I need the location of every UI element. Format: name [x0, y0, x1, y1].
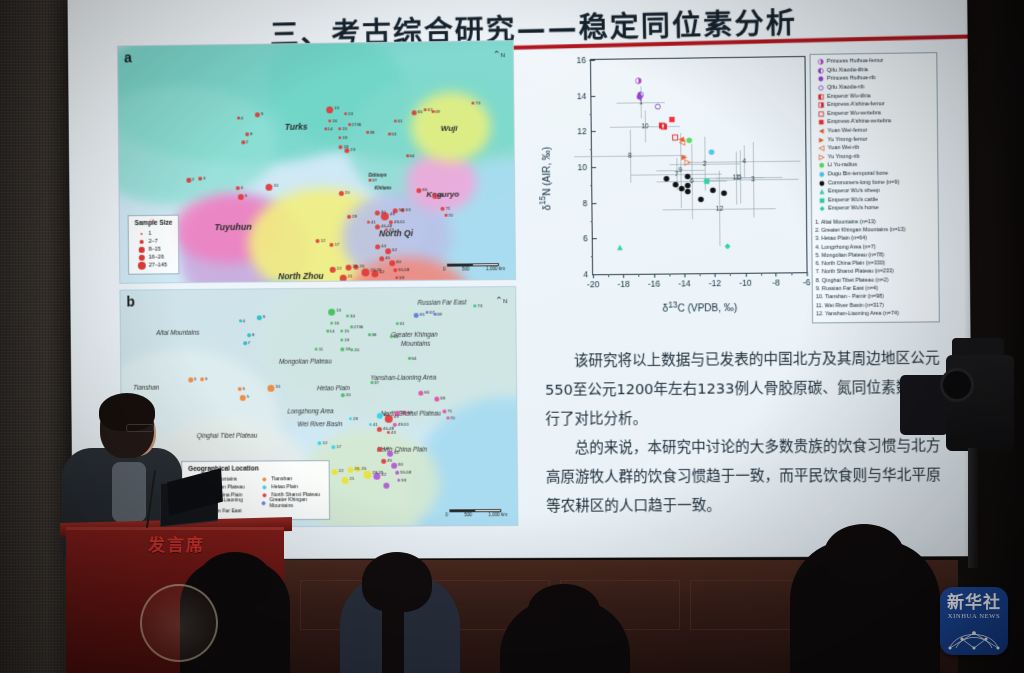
x-axis-minor-tick [791, 272, 792, 275]
chart-legend-marker-icon [814, 68, 827, 74]
map-a-region-label: Tuyuhun [214, 222, 251, 232]
map-a-sample-dot [255, 112, 260, 117]
map-b-site-number: 19 [344, 337, 349, 342]
podium-emblem-icon [140, 584, 218, 662]
map-a-site-number: 5 [245, 193, 247, 198]
map-a-site-number: 6 [241, 185, 243, 190]
group-number-annotation: 12 [716, 205, 723, 212]
data-point [686, 131, 693, 149]
map-b-site-number: 55-58 [400, 470, 411, 475]
chart-legend-marker-icon [814, 85, 827, 91]
map-b-site-number: 71 [447, 408, 452, 413]
data-point [703, 172, 710, 190]
chart-legend-marker-icon [815, 206, 828, 212]
map-a-site-number: 19 [342, 135, 347, 140]
map-a-sample-dot [432, 194, 437, 199]
chart-legend-marker-icon [814, 102, 827, 108]
map-a-sample-dot [326, 106, 333, 113]
map-b-sample-dot [340, 329, 343, 332]
sample-size-legend-label: 8–15 [149, 247, 161, 253]
data-point [724, 237, 731, 255]
map-a-sample-dot [375, 224, 380, 229]
map-b-sample-dot [473, 304, 476, 307]
map-b-site-number: 3 [194, 376, 196, 381]
map-b-site-number: 17 [336, 444, 341, 449]
map-b-sample-dot [243, 341, 246, 345]
map-b-geo-label: Longzhong Area [287, 408, 333, 415]
chart-legend-label: Empress A'shina-vertebra [827, 119, 891, 126]
map-b-sample-dot [395, 471, 399, 475]
map-b-sample-dot [342, 477, 349, 484]
map-b-site-number: 26 [361, 466, 366, 471]
data-point [698, 190, 705, 208]
x-axis-tick: -8 [772, 272, 780, 287]
map-a-sample-dot [347, 215, 351, 219]
map-b-geo-label: Mongolian Plateau [279, 358, 332, 365]
map-b-site-number: 6 [243, 386, 245, 391]
map-b-site-number: 69 [437, 312, 442, 317]
map-panel-a: a ⌃N TurksWujiDidouyuKhitansKoguryoTuyuh… [117, 40, 516, 284]
map-b-sample-dot [387, 431, 390, 434]
map-a-sample-dot [367, 221, 370, 224]
map-a-site-number: 61 [398, 118, 403, 123]
y-axis-tick: 8 [583, 198, 593, 208]
map-b-site-number: 29-35 [372, 470, 383, 475]
scalebar-tick-label: 0 [445, 512, 448, 517]
group-number-annotation: 8 [628, 152, 632, 159]
map-b-site-number: 10 [275, 384, 280, 389]
map-a-site-number: 20 [345, 190, 350, 195]
data-point [709, 181, 716, 199]
map-a-sample-dot [329, 243, 333, 247]
map-b-sample-dot [442, 409, 446, 413]
map-b-sample-dot [350, 325, 353, 328]
map-a-sample-dot [471, 102, 474, 105]
x-axis-minor-tick [761, 273, 762, 276]
x-axis-tick: -6 [803, 272, 811, 287]
map-a-sample-dot [339, 191, 344, 196]
map-a-site-number: 28 [352, 214, 357, 219]
map-b-sample-dot [347, 467, 353, 473]
chart-legend-marker-icon [815, 180, 828, 186]
map-b-sample-dot [240, 395, 246, 401]
map-b-site-number: 14 [330, 329, 335, 334]
map-a-site-number: 68 [438, 193, 443, 198]
map-a-site-number: 2 [192, 177, 194, 182]
map-a-site-number: 49-51 [394, 219, 405, 224]
map-a-site-number: 63 [406, 207, 411, 212]
chart-legend-marker-icon [814, 59, 827, 65]
scalebar-tick-label: 1,000 km [488, 512, 507, 517]
map-a-site-number: 24 [348, 111, 353, 116]
map-a-site-number: 73 [475, 100, 480, 105]
map-b-sample-dot [383, 483, 389, 489]
map-a-region-label: North Zhou [278, 271, 323, 281]
map-a-site-number: 9 [261, 111, 263, 116]
y-axis-minor-tick [589, 149, 592, 150]
map-a-sample-dot [375, 244, 380, 249]
xinhua-news-logo: 新华社 XINHUA NEWS [940, 587, 1008, 655]
isotope-scatter-chart: δ15N (AIR, ‰) 46810121416-20-18-16-14-12… [534, 42, 940, 320]
map-a-sample-dot [338, 127, 341, 130]
map-b-sample-dot [188, 377, 192, 382]
map-b-sample-dot [247, 333, 251, 337]
map-a-sample-dot [186, 178, 190, 183]
map-b-site-number: 9 [205, 376, 207, 381]
geo-legend-dot-icon [258, 501, 270, 505]
map-b-geo-label: Wei River Basin [297, 421, 342, 428]
chart-legend-label: Li Yu-radius [828, 162, 857, 168]
map-a-site-number: 2736 [352, 122, 362, 127]
map-b-sample-dot [426, 311, 429, 314]
map-a-sample-dot [394, 120, 397, 123]
chart-legend-label: Commoners-long bone (n=9) [828, 179, 899, 186]
chart-legend-label: Princess Huihua-rib [827, 76, 876, 83]
chart-legend-label: Empress A'shina-femur [827, 101, 884, 108]
map-b-sample-dot [340, 338, 343, 341]
map-a-sample-dot [316, 239, 320, 243]
map-b-sample-dot [326, 330, 329, 333]
speaker-glasses [126, 424, 154, 432]
chart-legend-label: Princess Huihua-femur [827, 58, 884, 65]
y-axis-tick: 12 [577, 126, 592, 136]
data-point [660, 117, 667, 135]
wall-right-shadow [964, 0, 1024, 673]
north-arrow-b: ⌃N [495, 295, 507, 306]
map-a-site-number: 66 [422, 187, 427, 192]
chart-legend: Princess Huihua-femurQifu Xiaoda-tibiaPr… [810, 52, 940, 324]
map-b-site-number: 37 [374, 380, 379, 385]
map-b-sample-dot [330, 322, 333, 325]
map-a-site-number: 53 [391, 131, 396, 136]
sample-size-legend-label: 16–26 [149, 255, 164, 261]
map-b-site-number: 12 [322, 440, 327, 445]
chart-legend-label: Emperor Wu-tibia [827, 93, 870, 100]
map-a-sample-dot [348, 123, 351, 126]
chart-legend-label: Qifu Xiaoda-tibia [827, 67, 868, 74]
map-b-site-number: 63 [408, 410, 413, 415]
map-a-sample-dot [330, 267, 336, 273]
camera-tripod [968, 448, 978, 568]
map-b-sample-dot [377, 447, 382, 452]
map-b-sample-dot [350, 348, 353, 351]
map-b-site-number: 60 [398, 462, 403, 467]
chart-legend-label: Emperor Wu's horse [828, 205, 879, 212]
sample-size-legend-rows: 12–78–1516–2627–145 [135, 230, 173, 270]
map-a-site-number: 13 [334, 105, 339, 110]
map-a-site-number: 45 [385, 255, 390, 260]
y-axis-label: δ15N (AIR, ‰) [537, 146, 553, 210]
x-axis-tick: -16 [648, 274, 661, 289]
map-a-sample-dot [445, 214, 448, 217]
map-a-site-number: 3 [203, 176, 205, 181]
map-a-site-number: 44 [381, 243, 386, 248]
map-a-sample-dot [440, 207, 444, 211]
map-a-site-number: 14 [328, 126, 333, 131]
sample-size-legend-label: 2–7 [149, 239, 158, 245]
map-b-site-number: 61 [400, 321, 405, 326]
map-a-site-number: 65 [418, 109, 423, 114]
chart-legend-marker-icon [815, 171, 828, 177]
group-number-annotation: 2 [703, 160, 707, 167]
map-b-site-number: 5 [247, 394, 249, 399]
y-axis-minor-tick [589, 60, 592, 61]
map-a-sample-dot [265, 184, 272, 191]
map-b-site-number: 59 [401, 478, 406, 483]
map-a-site-number: 59 [399, 275, 404, 280]
chart-legend-numbered-label: 12. Yanshan-Liaoning Area (n=74) [816, 309, 936, 318]
plot-area: 46810121416-20-18-16-14-12-10-8-61234567… [590, 56, 808, 275]
xinhua-logo-en: XINHUA NEWS [948, 613, 1001, 620]
map-b-site-number: 8 [252, 332, 254, 337]
chart-legend-label: Emperor Wu-vertebra [827, 110, 881, 117]
map-a-site-number: 2 [246, 139, 248, 144]
map-a-sample-dot [385, 248, 391, 254]
map-b-site-number: 38 [372, 332, 377, 337]
map-a-sample-dot [375, 210, 380, 215]
map-b-sample-dot [381, 459, 386, 464]
map-a-region-label: Wuji [441, 124, 458, 133]
map-a-sample-dot [424, 108, 427, 111]
north-arrow-a: ⌃N [493, 49, 505, 60]
map-a-sample-dot [198, 177, 202, 181]
scalebar-tick-label: 1,000 km [486, 266, 505, 271]
data-point [669, 110, 676, 128]
chart-legend-marker-icon [814, 120, 827, 126]
map-b-sample-dot [349, 417, 352, 420]
slide-body-text: 该研究将以上数据与已发表的中国北方及其周边地区公元550至公元1200年左右12… [545, 344, 950, 521]
chart-legend-marker-icon [815, 163, 828, 169]
map-b-site-number: 40 [384, 412, 389, 417]
map-a-sample-dot [338, 145, 342, 149]
scalebar-tick-label: 500 [462, 266, 470, 271]
data-point [663, 169, 670, 187]
podium-sign-text: 发言席 [148, 531, 205, 556]
map-b-site-number: 25 [354, 466, 359, 471]
map-b-sample-dot [390, 335, 393, 338]
map-b-site-number: 15 [344, 328, 349, 333]
map-b-site-number: 13 [336, 308, 341, 313]
chart-legend-marker-icon [814, 94, 827, 100]
map-b-sample-dot [315, 348, 318, 351]
map-b-site-number: 7 [248, 340, 250, 345]
x-axis-minor-tick [700, 273, 701, 276]
map-a-sample-dot [385, 228, 388, 231]
map-a-sample-dot [324, 127, 327, 130]
map-a-site-number: 25 [352, 264, 357, 269]
map-a-sample-dot [328, 119, 331, 122]
map-b-sample-dot [387, 451, 393, 457]
chart-legend-marker-icon [815, 154, 828, 160]
group-number-annotation: 3 [751, 176, 755, 183]
map-b-sample-dot [414, 313, 419, 318]
map-a-sample-dot [388, 133, 391, 136]
map-b-geo-label: Altai Mountains [156, 330, 199, 337]
map-b-site-number: 64 [412, 356, 417, 361]
map-b-sample-dot [257, 315, 262, 320]
map-b-site-number: 66 [424, 390, 429, 395]
xinhua-logo-cn: 新华社 [947, 594, 1001, 612]
map-b-site-number: 45 [387, 458, 392, 463]
map-b-geo-label: Yanshan-Liaoning Area [370, 375, 436, 382]
map-a-site-number: 38 [370, 130, 375, 135]
sample-size-dot-icon [135, 261, 149, 270]
map-b-sample-dot [340, 347, 344, 351]
map-a-site-number: 52 [399, 207, 404, 212]
map-b-site-number: 2736 [354, 324, 364, 329]
map-a-sample-dot [369, 179, 372, 182]
camera-lens-icon [940, 368, 974, 402]
group-number-annotation: 4 [742, 158, 746, 165]
map-a-sample-dot [237, 117, 239, 120]
speaker-shirt [112, 462, 146, 522]
chart-legend-marker-icon [814, 128, 827, 134]
x-axis-tick: -10 [739, 273, 752, 288]
geo-legend-label: Tianshan [271, 476, 292, 482]
group-number-annotation: 11 [733, 174, 740, 181]
map-b-sample-dot [418, 391, 423, 396]
chart-legend-label: Qifu Xiaoda-rib [827, 84, 864, 91]
panel-a-letter: a [124, 49, 132, 65]
x-axis-minor-tick [639, 274, 640, 277]
map-a-sample-dot [416, 188, 421, 193]
map-a-sample-dot [238, 194, 244, 200]
map-b-sample-dot [331, 445, 335, 449]
data-point [616, 238, 623, 256]
chart-legend-numbered-rows: 1. Altai Mountains (n=13)2. Greater Khin… [815, 217, 936, 318]
map-b-sample-dot [371, 381, 374, 384]
map-b-sample-dot [446, 416, 449, 419]
region-pubu-fill [249, 283, 319, 284]
map-b-site-number: 28 [353, 416, 358, 421]
map-a-sample-dot [379, 256, 384, 261]
map-b-sample-dot [391, 463, 397, 469]
map-b-geo-label: Mountains [401, 341, 430, 348]
data-point [708, 142, 715, 160]
map-a-sample-dot [340, 275, 347, 282]
map-a-site-number: 4 [241, 115, 243, 120]
sample-size-dot-icon [135, 247, 149, 252]
map-b-sample-dot [377, 413, 383, 419]
y-axis-minor-tick [589, 114, 592, 115]
map-b-sample-dot [200, 377, 204, 381]
map-a-sample-dot [381, 280, 387, 284]
chart-legend-label: Yuan Wei-rib [828, 145, 860, 151]
map-b-sample-dot [377, 427, 382, 432]
map-b-site-number: 68 [440, 396, 445, 401]
chart-legend-marker-icon [815, 189, 828, 195]
y-axis-tick: 14 [577, 91, 592, 101]
map-b-sample-dot [267, 385, 274, 392]
map-a-site-number: 15 [342, 126, 347, 131]
map-a-sample-dot [366, 131, 369, 134]
x-axis-tick: -18 [617, 274, 629, 289]
map-b-sample-dot [239, 319, 241, 322]
map-b-site-number: 9 [263, 314, 265, 319]
chart-legend-label: Emperor Wu's cattle [828, 197, 878, 204]
map-b-geo-label: Qinghai Tibet Plateau [197, 433, 258, 440]
chart-legend-marker-icon [814, 111, 827, 117]
map-a-site-number: 21 [348, 274, 353, 279]
x-axis-minor-tick [730, 273, 731, 276]
data-point [720, 183, 727, 201]
chart-legend-label: Dugu Bin-temporal bone [828, 171, 888, 178]
map-a-site-number: 12 [320, 238, 325, 243]
map-b-sample-dot [434, 397, 439, 402]
map-a-region-label: Turks [285, 122, 308, 132]
map-b-site-number: 52 [401, 410, 406, 415]
map-b-sample-dot [332, 469, 338, 475]
y-axis-tick: 6 [583, 234, 593, 244]
y-axis-tick: 10 [578, 162, 593, 172]
body-paragraph-2: 总的来说，本研究中讨论的大多数贵族的饮食习惯与北方高原游牧人群的饮食习惯趋于一致… [546, 432, 950, 522]
map-a-site-number: 41 [371, 220, 376, 225]
group-number-annotation: 9 [678, 167, 682, 174]
map-a-sample-dot [393, 268, 397, 272]
map-a-site-number: 69 [435, 109, 440, 114]
chart-legend-marker-icon [814, 76, 827, 82]
x-axis-label: δ13C (VPDB, ‰) [592, 298, 808, 315]
map-a-site-number: 16 [332, 118, 337, 123]
chart-legend-label: Yu Yirong-femur [828, 136, 868, 143]
scalebar-a: 05001,000 km [447, 263, 505, 272]
audience-ponytail-2 [382, 590, 404, 673]
map-b-site-number: 21 [350, 476, 355, 481]
chart-legend-label: Yuan Wei-femur [827, 128, 867, 135]
sample-size-dot-icon [135, 233, 149, 235]
geo-legend-row: Greater Khingan Mountains [258, 499, 323, 507]
map-a-sample-dot [241, 140, 244, 144]
chart-legend-label: Yu Yirong-rib [828, 154, 860, 160]
map-a-site-number: 43 [389, 227, 394, 232]
map-b-sample-dot [396, 322, 399, 325]
map-b-site-number: 73 [477, 303, 482, 308]
y-axis-minor-tick [590, 256, 593, 257]
sample-size-dot-icon [135, 254, 149, 261]
map-a-site-number: 64 [410, 153, 415, 158]
map-b-sample-dot [341, 393, 345, 397]
chart-legend-marker-icon [814, 145, 827, 151]
map-b-sample-dot [346, 314, 349, 317]
map-a-region-label: Khitans [375, 185, 392, 190]
map-b-site-number: 41 [373, 422, 378, 427]
map-b-site-number: 11 [319, 347, 324, 352]
sample-size-legend: Sample Size 12–78–1516–2627–145 [128, 215, 180, 275]
map-a-sample-dot [406, 154, 409, 157]
map-b-site-number: 49-51 [398, 422, 409, 427]
map-b-site-number: 18 [345, 346, 350, 351]
map-a-site-number: 29-35 [370, 267, 381, 272]
map-a-sample-dot [338, 136, 341, 139]
y-axis-minor-tick [590, 221, 593, 222]
map-a-site-number: 67 [428, 107, 433, 112]
map-b-geo-label: Tianshan [133, 385, 159, 392]
map-b-site-number: 4 [243, 318, 245, 323]
map-a-site-number: 49 [390, 211, 395, 216]
group-number-annotation: 10 [641, 123, 648, 130]
x-axis-minor-tick [608, 274, 609, 277]
sample-size-legend-label: 1 [148, 231, 151, 237]
x-axis-tick: -14 [678, 273, 691, 288]
scalebar-b: 05001,000 km [449, 509, 507, 517]
map-b-site-number: 49 [394, 414, 399, 419]
map-a-sample-dot [245, 132, 249, 136]
map-a-site-number: 23 [350, 147, 355, 152]
audience-hair-3 [528, 584, 600, 636]
map-a-site-number: 22 [337, 266, 342, 271]
map-b-site-number: 65 [420, 312, 425, 317]
map-a-site-number: 62 [392, 247, 397, 252]
